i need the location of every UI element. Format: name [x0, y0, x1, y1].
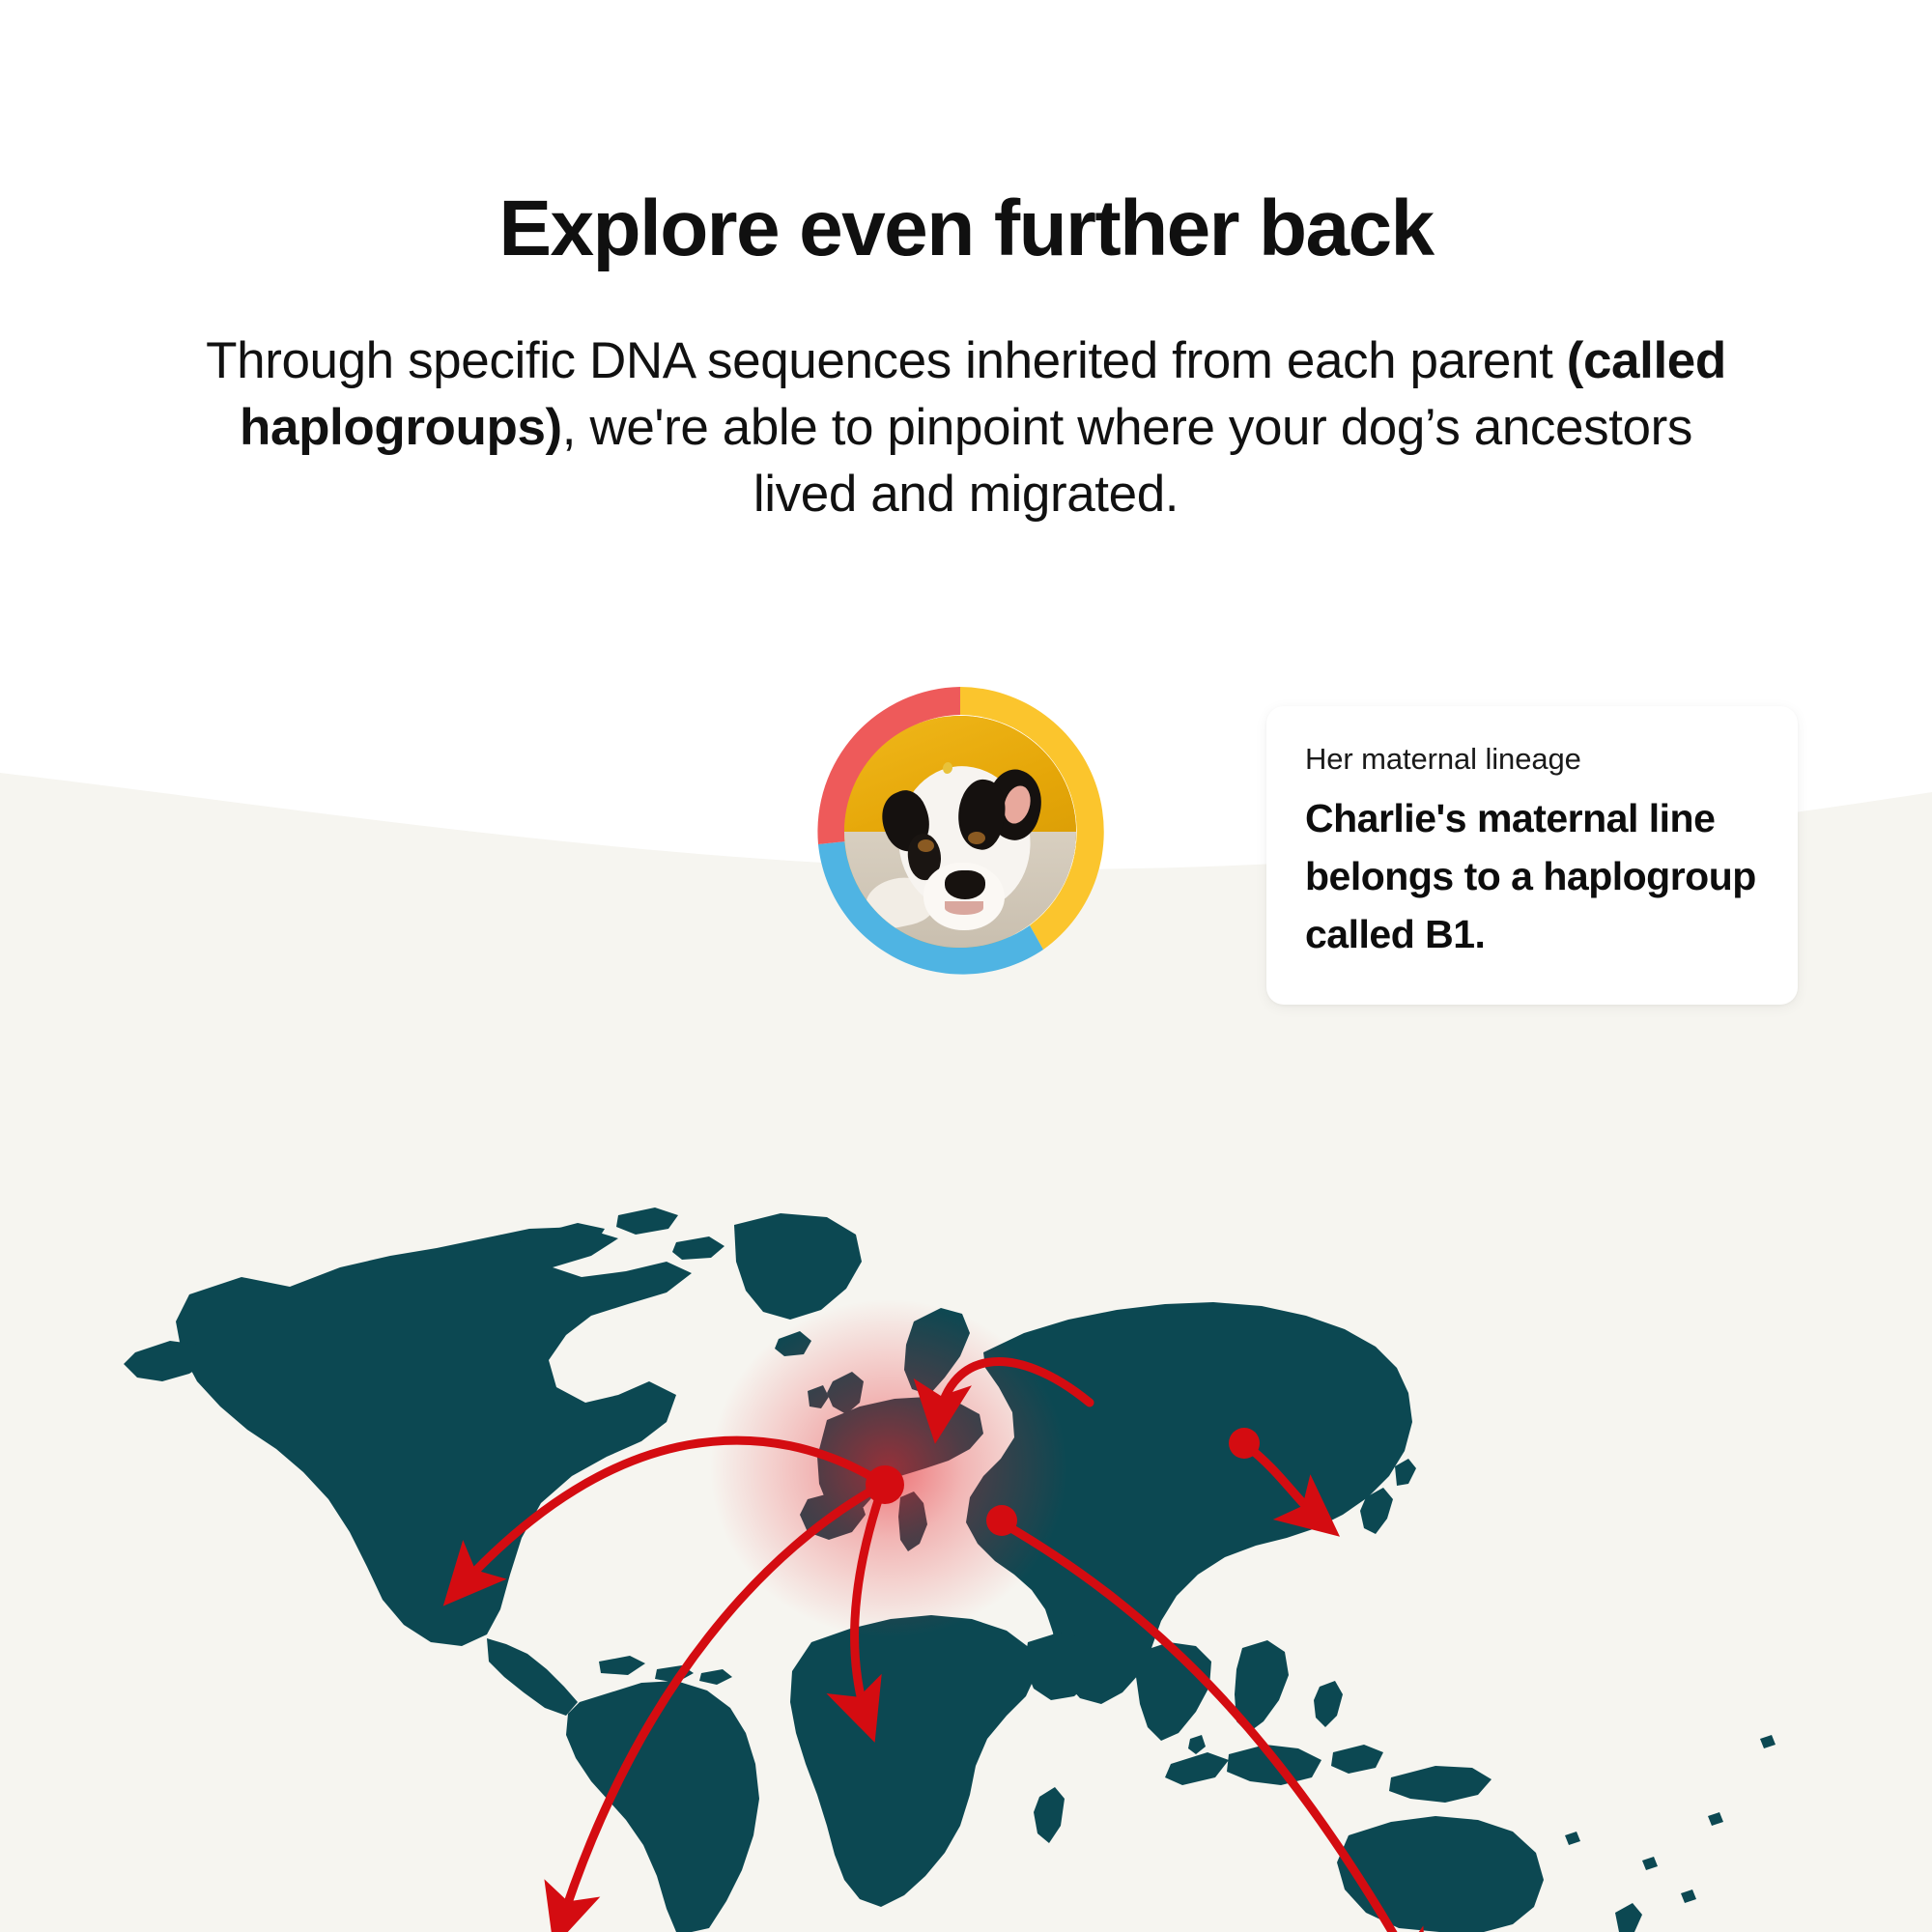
- headline-block: Explore even further back Through specif…: [0, 0, 1932, 528]
- page-title: Explore even further back: [0, 189, 1932, 269]
- subtitle-text-tail: , we're able to pinpoint where your dog’…: [562, 399, 1692, 523]
- avatar[interactable]: [802, 673, 1119, 990]
- lineage-card[interactable]: Her maternal lineage Charlie's maternal …: [1266, 706, 1798, 1005]
- lineage-card-eyebrow: Her maternal lineage: [1305, 741, 1759, 777]
- page-subtitle: Through specific DNA sequences inherited…: [193, 328, 1739, 528]
- avatar-photo: [844, 716, 1076, 948]
- origin-dot-mediterranean[interactable]: [986, 1505, 1017, 1536]
- lineage-card-headline: Charlie's maternal line belongs to a hap…: [1305, 790, 1759, 964]
- promo-page: Explore even further back Through specif…: [0, 0, 1932, 1932]
- world-migration-map: [0, 1063, 1932, 1932]
- origin-dot-europe[interactable]: [866, 1465, 904, 1504]
- waypoint-dot-russia[interactable]: [1229, 1428, 1260, 1459]
- subtitle-text-lead: Through specific DNA sequences inherited…: [206, 332, 1567, 389]
